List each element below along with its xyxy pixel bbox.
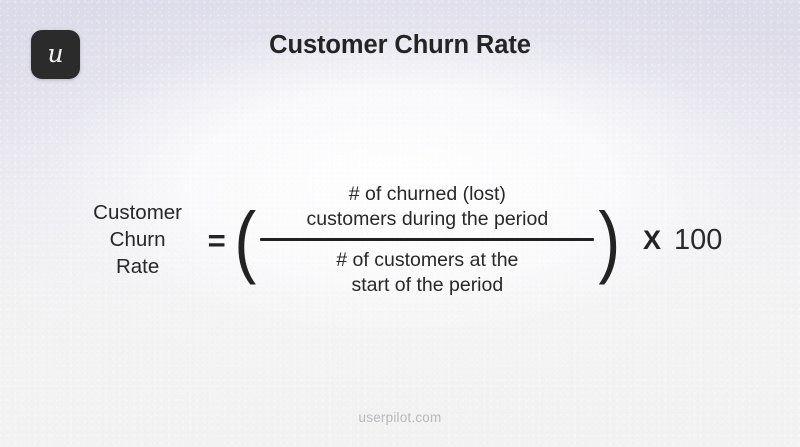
fraction: # of churned (lost) customers during the… (260, 182, 594, 298)
formula-left-label: Customer Churn Rate (78, 199, 198, 280)
formula-left-label-line1: Customer (78, 199, 198, 226)
formula-left-label-line3: Rate (78, 253, 198, 280)
fraction-denominator-line2: start of the period (336, 273, 518, 298)
fraction-numerator-line1: # of churned (lost) (306, 182, 548, 207)
fraction-numerator: # of churned (lost) customers during the… (306, 182, 548, 238)
equals-sign: = (208, 223, 226, 259)
formula-left-label-line2: Churn (78, 226, 198, 253)
footer-attribution: userpilot.com (0, 410, 800, 425)
fraction-denominator-line1: # of customers at the (336, 248, 518, 273)
multiplier-value: 100 (674, 224, 722, 257)
multiplication-sign: X (643, 225, 661, 256)
churn-rate-formula: Customer Churn Rate = ( # of churned (lo… (0, 182, 800, 298)
fraction-numerator-line2: customers during the period (306, 207, 548, 232)
fraction-denominator: # of customers at the start of the perio… (336, 241, 518, 298)
infographic-canvas: u Customer Churn Rate Customer Churn Rat… (0, 0, 800, 447)
page-title: Customer Churn Rate (0, 31, 800, 60)
